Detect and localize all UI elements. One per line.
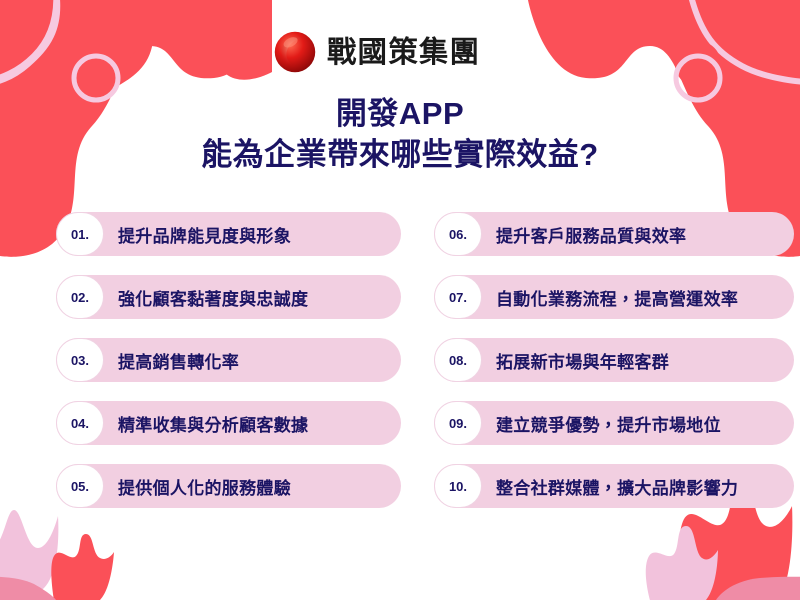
page-title: 開發APP 能為企業帶來哪些實際效益?: [0, 96, 800, 173]
benefit-label: 強化顧客黏著度與忠誠度: [104, 285, 401, 310]
benefit-label: 整合社群媒體，擴大品牌影響力: [482, 474, 794, 499]
benefit-number: 03.: [56, 338, 104, 382]
benefit-number: 09.: [434, 401, 482, 445]
benefit-item[interactable]: 07. 自動化業務流程，提高營運效率: [434, 275, 794, 319]
bottom-left-dark-pink-leaf-icon: [0, 577, 56, 600]
benefit-label: 精準收集與分析顧客數據: [104, 411, 401, 436]
benefit-item[interactable]: 10. 整合社群媒體，擴大品牌影響力: [434, 464, 794, 508]
page-title-line1: 開發APP: [0, 96, 800, 133]
benefit-item[interactable]: 08. 拓展新市場與年輕客群: [434, 338, 794, 382]
benefit-item[interactable]: 01. 提升品牌能見度與形象: [56, 212, 401, 256]
bottom-left-coral-tulip-icon: [51, 534, 114, 600]
benefit-label: 拓展新市場與年輕客群: [482, 348, 794, 373]
benefit-item[interactable]: 03. 提高銷售轉化率: [56, 338, 401, 382]
benefit-label: 自動化業務流程，提高營運效率: [482, 285, 794, 310]
benefit-number: 02.: [56, 275, 104, 319]
benefit-item[interactable]: 09. 建立競爭優勢，提升市場地位: [434, 401, 794, 445]
benefits-columns: 01. 提升品牌能見度與形象 02. 強化顧客黏著度與忠誠度 03. 提高銷售轉…: [0, 212, 800, 508]
benefit-item[interactable]: 06. 提升客戶服務品質與效率: [434, 212, 794, 256]
slide-canvas: 戰國策集團 開發APP 能為企業帶來哪些實際效益? 01. 提升品牌能見度與形象…: [0, 0, 800, 600]
page-title-line2: 能為企業帶來哪些實際效益?: [0, 137, 800, 174]
benefit-item[interactable]: 02. 強化顧客黏著度與忠誠度: [56, 275, 401, 319]
benefit-label: 提高銷售轉化率: [104, 348, 401, 373]
benefit-number: 10.: [434, 464, 482, 508]
brand-logo: 戰國策集團: [0, 30, 800, 74]
benefit-label: 建立競爭優勢，提升市場地位: [482, 411, 794, 436]
red-sphere-logo-icon: [273, 30, 317, 74]
bottom-left-pink-tulip-icon: [0, 510, 58, 600]
bottom-right-dark-pink-leaf-icon: [716, 577, 800, 600]
benefit-label: 提供個人化的服務體驗: [104, 474, 401, 499]
logo-wordmark-text: 戰國策集團: [327, 35, 480, 69]
benefits-right-column: 06. 提升客戶服務品質與效率 07. 自動化業務流程，提高營運效率 08. 拓…: [434, 212, 794, 508]
benefit-number: 04.: [56, 401, 104, 445]
bottom-right-pink-tulip-icon: [646, 526, 718, 600]
logo-wordmark: 戰國策集團: [327, 32, 527, 72]
benefit-item[interactable]: 05. 提供個人化的服務體驗: [56, 464, 401, 508]
benefit-label: 提升客戶服務品質與效率: [482, 222, 794, 247]
benefit-item[interactable]: 04. 精準收集與分析顧客數據: [56, 401, 401, 445]
benefit-number: 07.: [434, 275, 482, 319]
benefit-label: 提升品牌能見度與形象: [104, 222, 401, 247]
benefits-left-column: 01. 提升品牌能見度與形象 02. 強化顧客黏著度與忠誠度 03. 提高銷售轉…: [56, 212, 401, 508]
benefit-number: 08.: [434, 338, 482, 382]
benefit-number: 05.: [56, 464, 104, 508]
benefit-number: 06.: [434, 212, 482, 256]
benefit-number: 01.: [56, 212, 104, 256]
